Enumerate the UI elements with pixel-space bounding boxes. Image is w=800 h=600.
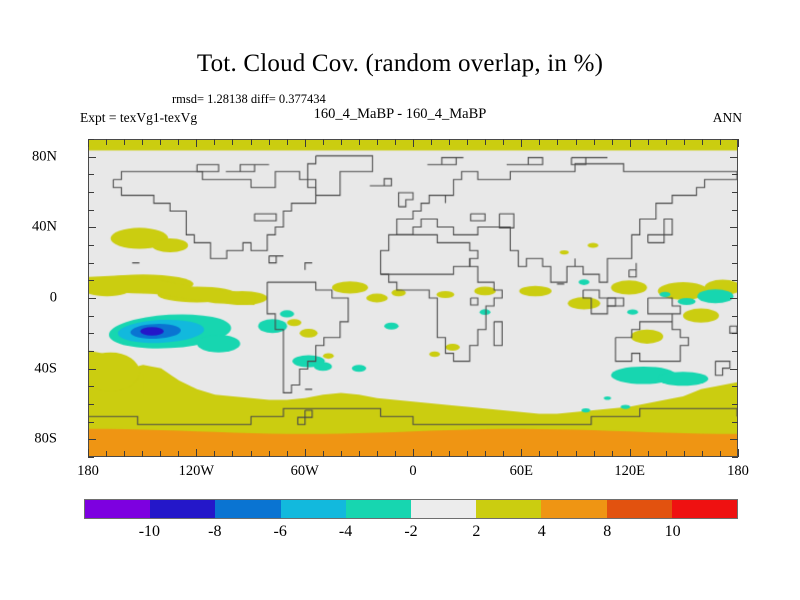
colorbar-tick-neg2: -2	[404, 523, 417, 541]
colorbar-tick-4: 4	[538, 523, 546, 541]
x-tick	[449, 451, 450, 457]
y-tick	[88, 369, 96, 370]
x-tick-top	[576, 139, 577, 145]
y-tick-right	[732, 139, 738, 140]
y-tick-right	[732, 333, 738, 334]
y-tick-right	[732, 280, 738, 281]
x-tick	[106, 451, 107, 457]
y-axis-label-80S: 80S	[34, 431, 57, 448]
colorbar-swatch-violet	[85, 500, 150, 518]
map-contour-canvas	[89, 140, 737, 456]
x-tick	[666, 451, 667, 457]
x-tick-top	[142, 139, 143, 145]
x-tick-top	[196, 139, 197, 147]
colorbar-swatch-orange-red	[607, 500, 672, 518]
y-tick-right	[732, 404, 738, 405]
x-tick	[178, 451, 179, 457]
x-tick	[467, 451, 468, 457]
x-tick-top	[666, 139, 667, 145]
x-tick	[359, 451, 360, 457]
x-tick-top	[539, 139, 540, 145]
x-tick	[738, 449, 739, 457]
season-label: ANN	[0, 110, 800, 126]
x-axis-label-0: 0	[409, 463, 416, 480]
x-tick	[142, 451, 143, 457]
y-tick	[88, 422, 94, 423]
climate-difference-figure: Tot. Cloud Cov. (random overlap, in %) r…	[0, 0, 800, 600]
colorbar-swatch-yellow-green	[476, 500, 541, 518]
x-tick-top	[557, 139, 558, 145]
y-tick	[88, 316, 94, 317]
x-tick	[431, 451, 432, 457]
x-tick	[124, 451, 125, 457]
y-tick-right	[730, 298, 738, 299]
x-tick-top	[377, 139, 378, 145]
x-tick-top	[648, 139, 649, 145]
y-tick-right	[732, 192, 738, 193]
y-tick	[88, 210, 94, 211]
x-tick	[160, 451, 161, 457]
y-tick-right	[730, 227, 738, 228]
x-tick-top	[521, 139, 522, 147]
y-tick	[88, 457, 94, 458]
x-tick-top	[341, 139, 342, 145]
x-tick-top	[160, 139, 161, 145]
colorbar-swatch-light-gray	[411, 500, 476, 518]
y-tick-right	[730, 369, 738, 370]
y-tick	[88, 245, 94, 246]
x-tick	[323, 451, 324, 457]
x-tick	[269, 451, 270, 457]
x-tick-top	[251, 139, 252, 145]
x-tick	[88, 449, 89, 457]
y-tick	[88, 439, 96, 440]
y-axis-label-40N: 40N	[32, 219, 57, 236]
x-tick-top	[106, 139, 107, 145]
x-tick	[287, 451, 288, 457]
colorbar-swatch-blue	[215, 500, 280, 518]
colorbar-swatch-cyan-blue	[281, 500, 346, 518]
colorbar	[84, 499, 738, 519]
x-tick	[214, 451, 215, 457]
y-tick-right	[732, 457, 738, 458]
y-tick-right	[732, 351, 738, 352]
colorbar-tick-8: 8	[603, 523, 611, 541]
x-tick-top	[612, 139, 613, 145]
x-tick-top	[287, 139, 288, 145]
x-tick-top	[738, 139, 739, 147]
colorbar-tick-neg10: -10	[139, 523, 160, 541]
x-tick	[503, 451, 504, 457]
y-tick	[88, 298, 96, 299]
x-axis-label-120W: 120W	[179, 463, 214, 480]
x-tick-top	[594, 139, 595, 145]
y-tick	[88, 157, 96, 158]
x-tick-top	[124, 139, 125, 145]
x-axis-label-60E: 60E	[510, 463, 533, 480]
x-axis-label-180: 180	[727, 463, 749, 480]
x-tick	[630, 449, 631, 457]
y-tick	[88, 351, 94, 352]
x-tick-top	[323, 139, 324, 145]
colorbar-swatch-dark-blue	[150, 500, 215, 518]
x-tick-top	[702, 139, 703, 145]
colorbar-tick-neg4: -4	[339, 523, 352, 541]
x-tick-top	[503, 139, 504, 145]
x-tick	[413, 449, 414, 457]
y-tick	[88, 227, 96, 228]
y-tick-right	[730, 439, 738, 440]
x-tick	[702, 451, 703, 457]
y-tick	[88, 404, 94, 405]
x-tick	[377, 451, 378, 457]
x-tick	[395, 451, 396, 457]
x-tick	[485, 451, 486, 457]
x-tick-top	[684, 139, 685, 145]
x-tick-top	[178, 139, 179, 145]
x-tick	[521, 449, 522, 457]
x-tick	[557, 451, 558, 457]
x-tick-top	[214, 139, 215, 145]
colorbar-tick-neg8: -8	[208, 523, 221, 541]
colorbar-tick-neg6: -6	[274, 523, 287, 541]
y-tick	[88, 280, 94, 281]
x-tick-top	[413, 139, 414, 147]
colorbar-tick-2: 2	[472, 523, 480, 541]
x-tick-top	[359, 139, 360, 145]
y-tick	[88, 386, 94, 387]
colorbar-tick-10: 10	[665, 523, 681, 541]
x-tick	[594, 451, 595, 457]
x-tick-top	[269, 139, 270, 145]
y-tick-right	[732, 263, 738, 264]
y-tick-right	[732, 316, 738, 317]
x-tick	[539, 451, 540, 457]
colorbar-swatch-red	[672, 500, 737, 518]
x-tick-top	[305, 139, 306, 147]
x-tick	[684, 451, 685, 457]
y-tick-right	[732, 386, 738, 387]
x-tick	[305, 449, 306, 457]
x-tick-top	[431, 139, 432, 145]
x-tick-top	[88, 139, 89, 147]
y-tick	[88, 192, 94, 193]
x-tick	[196, 449, 197, 457]
x-tick-top	[449, 139, 450, 145]
y-tick	[88, 263, 94, 264]
y-tick-right	[732, 210, 738, 211]
colorbar-swatch-orange	[541, 500, 606, 518]
x-tick	[720, 451, 721, 457]
page-title: Tot. Cloud Cov. (random overlap, in %)	[0, 50, 800, 78]
x-tick-top	[232, 139, 233, 145]
y-tick-right	[730, 157, 738, 158]
y-tick-right	[732, 174, 738, 175]
x-tick	[341, 451, 342, 457]
x-tick-top	[467, 139, 468, 145]
x-tick-top	[485, 139, 486, 145]
x-tick-top	[720, 139, 721, 145]
x-tick	[648, 451, 649, 457]
y-axis-label-40S: 40S	[34, 360, 57, 377]
y-tick	[88, 139, 94, 140]
y-tick-right	[732, 245, 738, 246]
y-tick	[88, 333, 94, 334]
rmsd-stats-label: rmsd= 1.28138 diff= 0.377434	[172, 92, 326, 107]
map-plot-area	[88, 139, 738, 457]
x-tick-top	[395, 139, 396, 145]
y-axis-label-0: 0	[50, 290, 57, 307]
x-axis-label-180: 180	[77, 463, 99, 480]
x-axis-label-60W: 60W	[291, 463, 319, 480]
colorbar-swatch-turquoise	[346, 500, 411, 518]
x-axis-label-120E: 120E	[614, 463, 645, 480]
y-tick-right	[732, 422, 738, 423]
x-tick	[612, 451, 613, 457]
y-axis-label-80N: 80N	[32, 148, 57, 165]
x-tick	[576, 451, 577, 457]
y-tick	[88, 174, 94, 175]
x-tick	[232, 451, 233, 457]
x-tick	[251, 451, 252, 457]
x-tick-top	[630, 139, 631, 147]
